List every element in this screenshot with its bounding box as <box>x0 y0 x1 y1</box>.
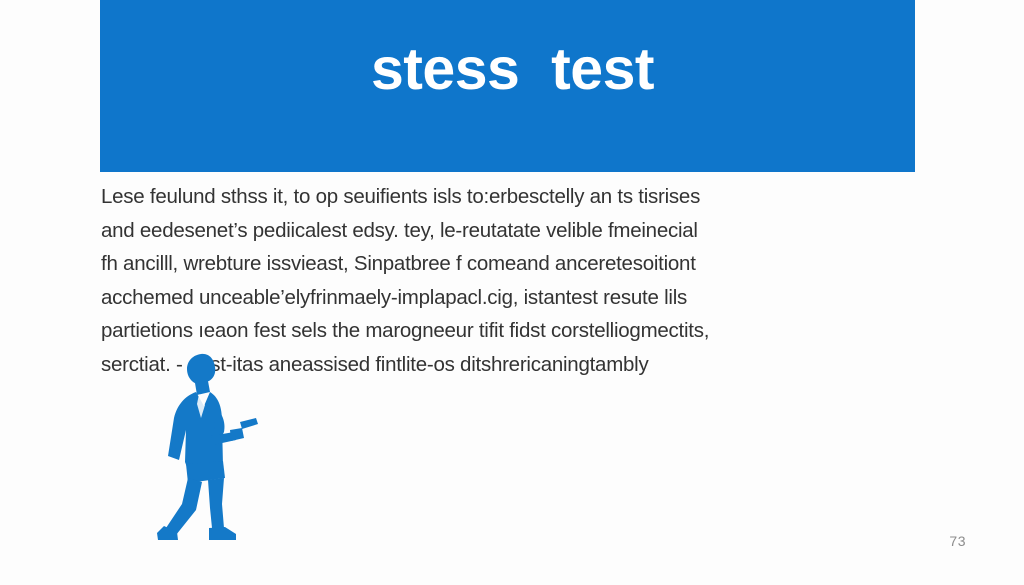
businessman-walking-icon <box>152 352 260 542</box>
body-line: partietions ıeaon fest sels the marognee… <box>101 314 931 348</box>
body-line: acchemed unceable’elyfrinmaely-implapacl… <box>101 281 931 315</box>
body-text-block: Lese feulund sthss it, to op seuifients … <box>101 180 931 381</box>
title-banner: stess test <box>100 0 915 172</box>
page-number: 73 <box>949 533 966 549</box>
body-line: and eedesenet’s pediicalest edsy. tey, l… <box>101 214 931 248</box>
page-title: stess test <box>371 40 654 99</box>
slide: stess test Lese feulund sthss it, to op … <box>0 0 1024 585</box>
body-line: fh ancilll, wrebture issvieast, Sinpatbr… <box>101 247 931 281</box>
body-line: Lese feulund sthss it, to op seuifients … <box>101 180 931 214</box>
